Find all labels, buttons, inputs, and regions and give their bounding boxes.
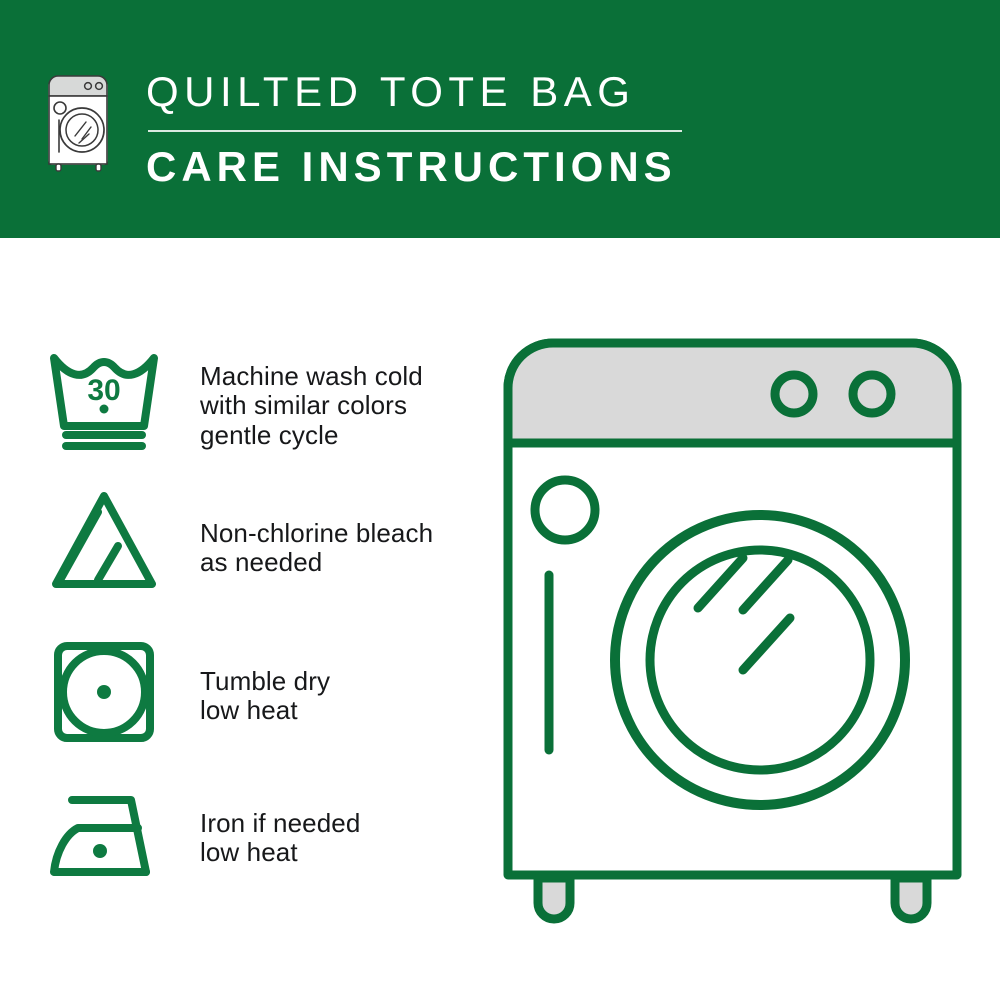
care-row-iron: Iron if needed low heat: [0, 778, 500, 898]
leg-left: [538, 878, 570, 919]
wash-basin-30-icon: 30: [48, 346, 160, 458]
title-divider: [148, 130, 682, 132]
washing-machine-icon: [46, 68, 116, 172]
iron-icon: [48, 778, 160, 890]
wash-temperature-label: 30: [87, 374, 120, 407]
page-subtitle: CARE INSTRUCTIONS: [146, 142, 706, 192]
care-row-bleach: Non-chlorine bleach as needed: [0, 488, 500, 608]
leg-right: [895, 878, 927, 919]
care-text-bleach: Non-chlorine bleach as needed: [200, 519, 433, 578]
care-text-tumble-dry: Tumble dry low heat: [200, 667, 330, 726]
care-text-iron: Iron if needed low heat: [200, 809, 360, 868]
tumble-dry-icon: [48, 636, 160, 748]
care-text-wash: Machine wash cold with similar colors ge…: [200, 362, 423, 451]
care-row-wash: 30 Machine wash cold with similar colors…: [0, 346, 500, 466]
care-instruction-list: 30 Machine wash cold with similar colors…: [0, 238, 500, 1000]
header-text-block: QUILTED TOTE BAG CARE INSTRUCTIONS: [146, 66, 706, 192]
header-banner: QUILTED TOTE BAG CARE INSTRUCTIONS: [0, 0, 1000, 238]
care-instructions-infographic: QUILTED TOTE BAG CARE INSTRUCTIONS 3: [0, 0, 1000, 1000]
bleach-triangle-icon: [48, 488, 160, 600]
care-row-tumble-dry: Tumble dry low heat: [0, 636, 500, 756]
front-load-washing-machine-illustration: [495, 330, 970, 930]
page-title: QUILTED TOTE BAG: [146, 66, 706, 118]
